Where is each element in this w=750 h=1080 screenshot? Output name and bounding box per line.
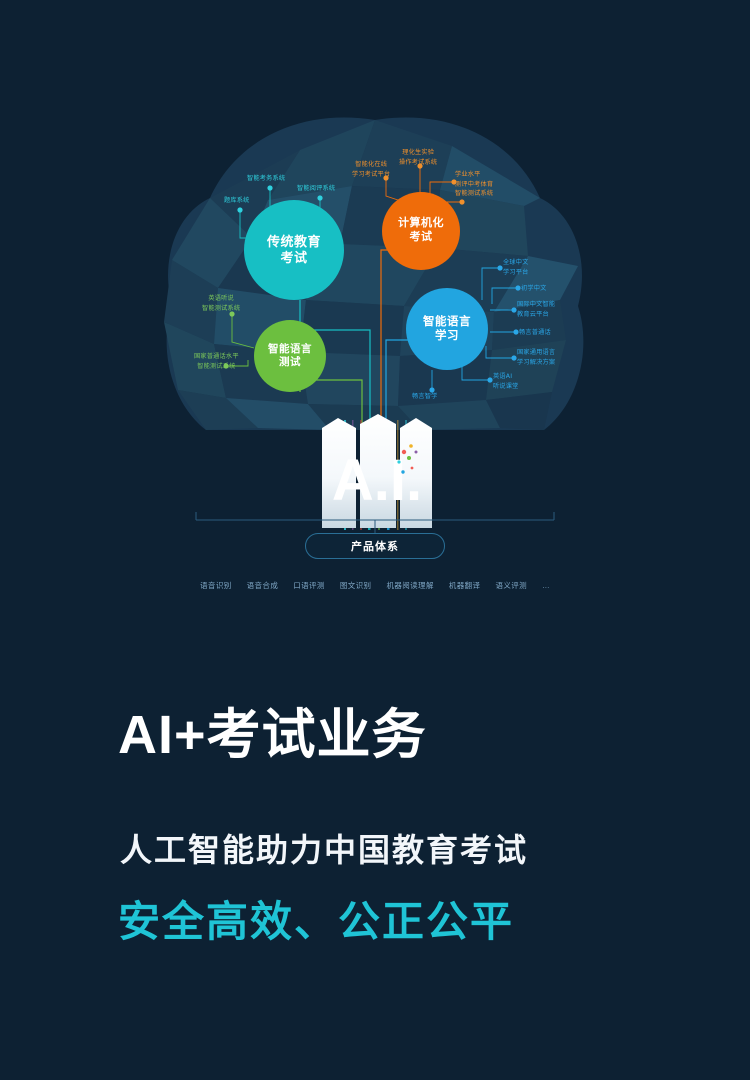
leaf-line-2: 学习考试平台 (352, 170, 390, 180)
subtitle-accent: 安全高效、公正公平 (118, 888, 514, 949)
bubble-traditional-education-exam[interactable]: 传统教育 考试 (244, 200, 344, 300)
leaf-label-national-language-solution: 国家通用语言 学习解决方案 (517, 348, 555, 367)
bubble-langtest-line2: 测试 (268, 356, 312, 369)
leaf-label-smart-marking: 智能阅评系统 (297, 184, 335, 194)
ai-trunk: A.I. (322, 414, 432, 528)
leaf-label-online-learning-exam-platform: 智能化在线 学习考试平台 (352, 160, 390, 179)
leaf-line-1: 智能考务系统 (247, 174, 285, 184)
bubble-traditional-line2: 考试 (267, 250, 321, 266)
leaf-line-1: 英语AI (493, 372, 519, 382)
leaf-label-national-putonghua-test-system: 国家普通话水平 智能测试系统 (194, 352, 239, 371)
leaf-line-1: 畅言智学 (412, 392, 438, 402)
leaf-label-english-listening-speaking-test: 英语听说 智能测试系统 (202, 294, 240, 313)
leaf-line-2: 操作考试系统 (399, 158, 437, 168)
leaf-label-lab-operation-exam-system: 理化生实验 操作考试系统 (399, 148, 437, 167)
capability-tag[interactable]: 语义评测 (495, 580, 527, 591)
leaf-label-smart-exam-admin: 智能考务系统 (247, 174, 285, 184)
leaf-line-1: 国际中文智能 (517, 300, 555, 310)
leaf-line-1: 理化生实验 (399, 148, 437, 158)
bubble-computerized-exam[interactable]: 计算机化 考试 (382, 192, 460, 270)
leaf-label-changyan-zhixue: 畅言智学 (412, 392, 438, 402)
capability-tag[interactable]: 机器翻译 (449, 580, 481, 591)
leaf-line-2: 学习解决方案 (517, 358, 555, 368)
leaf-label-academic-level-pe-test-system: 学业水平 测评中考体育 智能测试系统 (455, 170, 493, 199)
capability-tag[interactable]: 机器阅读理解 (386, 580, 433, 591)
product-system-pill[interactable]: 产品体系 (305, 533, 445, 559)
leaf-line-1: 英语听说 (202, 294, 240, 304)
leaf-line-2: 测评中考体育 (455, 180, 493, 190)
leaf-label-question-bank: 题库系统 (224, 196, 250, 206)
infographic-section: A.I. 传统教育 考试 计 (0, 0, 750, 630)
leaf-line-1: 全球中文 (503, 258, 529, 268)
leaf-line-1: 初学中文 (521, 284, 547, 294)
leaf-label-global-chinese-learning-platform: 全球中文 学习平台 (503, 258, 529, 277)
product-system-label: 产品体系 (351, 538, 399, 554)
capability-tag[interactable]: 语音合成 (247, 580, 279, 591)
bubble-langtest-line1: 智能语言 (268, 343, 312, 356)
capability-tag[interactable]: 图文识别 (340, 580, 372, 591)
leaf-line-1: 智能阅评系统 (297, 184, 335, 194)
leaf-line-1: 智能化在线 (352, 160, 390, 170)
leaf-label-beginner-chinese: 初学中文 (521, 284, 547, 294)
bubble-intelligent-language-testing[interactable]: 智能语言 测试 (254, 320, 326, 392)
bubble-computerized-line1: 计算机化 (398, 217, 444, 231)
bubble-traditional-line1: 传统教育 (267, 234, 321, 250)
leaf-line-2: 智能测试系统 (194, 362, 239, 372)
capability-tag-row: 语音识别 语音合成 口语评测 图文识别 机器阅读理解 机器翻译 语义评测 … (0, 580, 750, 591)
leaf-label-changyan-putonghua: 畅言普通话 (519, 328, 551, 338)
leaf-line-2: 智能测试系统 (202, 304, 240, 314)
leaf-label-english-ai-listening-speaking-class: 英语AI 听说课堂 (493, 372, 519, 391)
leaf-line-2: 学习平台 (503, 268, 529, 278)
subtitle-primary: 人工智能助力中国教育考试 (120, 825, 528, 871)
poster-root: A.I. 传统教育 考试 计 (0, 0, 750, 1080)
leaf-line-1: 题库系统 (224, 196, 250, 206)
capability-tag[interactable]: 语音识别 (200, 580, 232, 591)
bubble-langlearn-line1: 智能语言 (423, 315, 471, 329)
capability-tag[interactable]: 口语评测 (293, 580, 325, 591)
leaf-line-3: 智能测试系统 (455, 189, 493, 199)
leaf-line-1: 国家普通话水平 (194, 352, 239, 362)
page-title: AI+考试业务 (118, 690, 427, 769)
bubble-computerized-line2: 考试 (398, 231, 444, 245)
headline-section: AI+考试业务 人工智能助力中国教育考试 安全高效、公正公平 (0, 640, 750, 1080)
bubble-langlearn-line2: 学习 (423, 329, 471, 343)
leaf-line-1: 畅言普通话 (519, 328, 551, 338)
leaf-label-intl-chinese-edu-cloud: 国际中文智能 教育云平台 (517, 300, 555, 319)
capability-tag-more[interactable]: … (542, 581, 550, 590)
leaf-line-2: 教育云平台 (517, 310, 555, 320)
leaf-line-2: 听说课堂 (493, 382, 519, 392)
leaf-line-1: 学业水平 (455, 170, 493, 180)
bubble-intelligent-language-learning[interactable]: 智能语言 学习 (406, 288, 488, 370)
leaf-line-1: 国家通用语言 (517, 348, 555, 358)
